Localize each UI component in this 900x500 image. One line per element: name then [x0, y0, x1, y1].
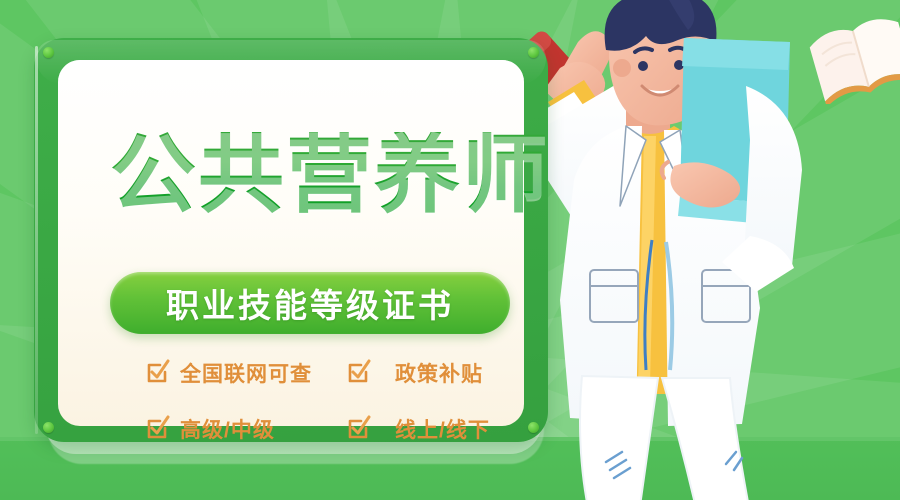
info-card: 公共营养师 职业技能等级证书 全国联网可查 [34, 38, 550, 462]
checkbox-check-icon [347, 362, 369, 384]
card-panel: 公共营养师 职业技能等级证书 全国联网可查 [58, 60, 524, 426]
feature-item: 政策补贴 [347, 358, 538, 388]
feature-label: 全国联网可查 [180, 358, 312, 388]
feature-item: 线上/线下 [347, 414, 538, 444]
card-screw-top-left [43, 47, 54, 58]
checkbox-check-icon [146, 418, 168, 440]
card-screw-top-right [528, 47, 539, 58]
feature-label: 高级/中级 [180, 414, 275, 444]
card-frame: 公共营养师 职业技能等级证书 全国联网可查 [34, 38, 548, 442]
card-frame-edge [35, 46, 38, 434]
checkbox-check-icon [347, 418, 369, 440]
feature-item: 全国联网可查 [146, 358, 337, 388]
open-book-icon [808, 8, 900, 104]
feature-item: 高级/中级 [146, 414, 337, 444]
certificate-pill-label: 职业技能等级证书 [166, 279, 454, 327]
promo-banner: 公共营养师 职业技能等级证书 全国联网可查 [0, 0, 900, 500]
card-screw-bottom-left [43, 422, 54, 433]
feature-label: 线上/线下 [395, 414, 490, 444]
checkbox-check-icon [146, 362, 168, 384]
feature-label: 政策补贴 [395, 358, 483, 388]
certificate-pill: 职业技能等级证书 [110, 272, 510, 334]
page-title: 公共营养师 [110, 132, 550, 218]
feature-list: 全国联网可查 政策补贴 [146, 358, 538, 444]
